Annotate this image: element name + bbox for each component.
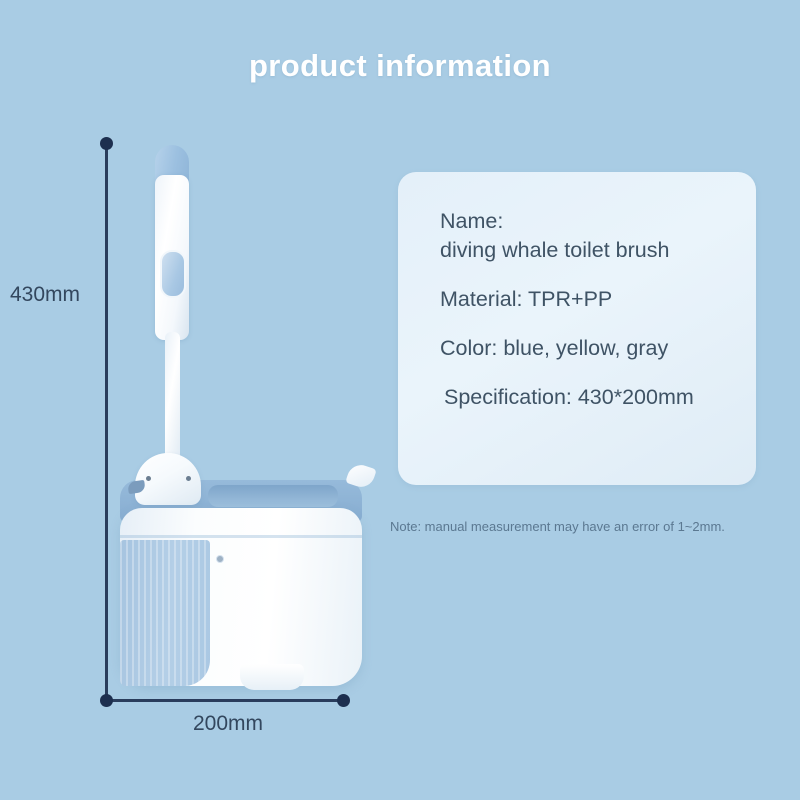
dimension-endpoint-dot-corner (100, 694, 113, 707)
height-dimension-line (105, 143, 108, 701)
dimension-endpoint-dot-right (337, 694, 350, 707)
page-title: product information (0, 48, 800, 84)
holder-slot (208, 485, 338, 507)
whale-head (135, 453, 201, 505)
product-info-card: Name: diving whale toilet brush Material… (398, 172, 756, 485)
info-specification: Specification: 430*200mm (440, 384, 740, 411)
info-name-label: Name: (440, 208, 740, 235)
whale-eye-right-icon (186, 476, 191, 481)
holder-ribbed-panel (120, 540, 210, 686)
product-information-page: product information 430mm 200mm Name: (0, 0, 800, 800)
height-dimension-label: 430mm (10, 283, 80, 307)
holder-foot (240, 664, 304, 690)
width-dimension-label: 200mm (193, 712, 263, 736)
product-info-list: Name: diving whale toilet brush Material… (440, 208, 740, 411)
info-name-value: diving whale toilet brush (440, 237, 740, 264)
brush-dispenser-button (160, 250, 186, 298)
product-illustration (110, 140, 370, 685)
width-dimension-line (106, 699, 344, 702)
holder-screw (216, 555, 224, 563)
info-color: Color: blue, yellow, gray (440, 335, 740, 362)
whale-eye-left-icon (146, 476, 151, 481)
holder-seam (120, 535, 362, 538)
info-material: Material: TPR+PP (440, 286, 740, 313)
measurement-note: Note: manual measurement may have an err… (390, 519, 725, 534)
